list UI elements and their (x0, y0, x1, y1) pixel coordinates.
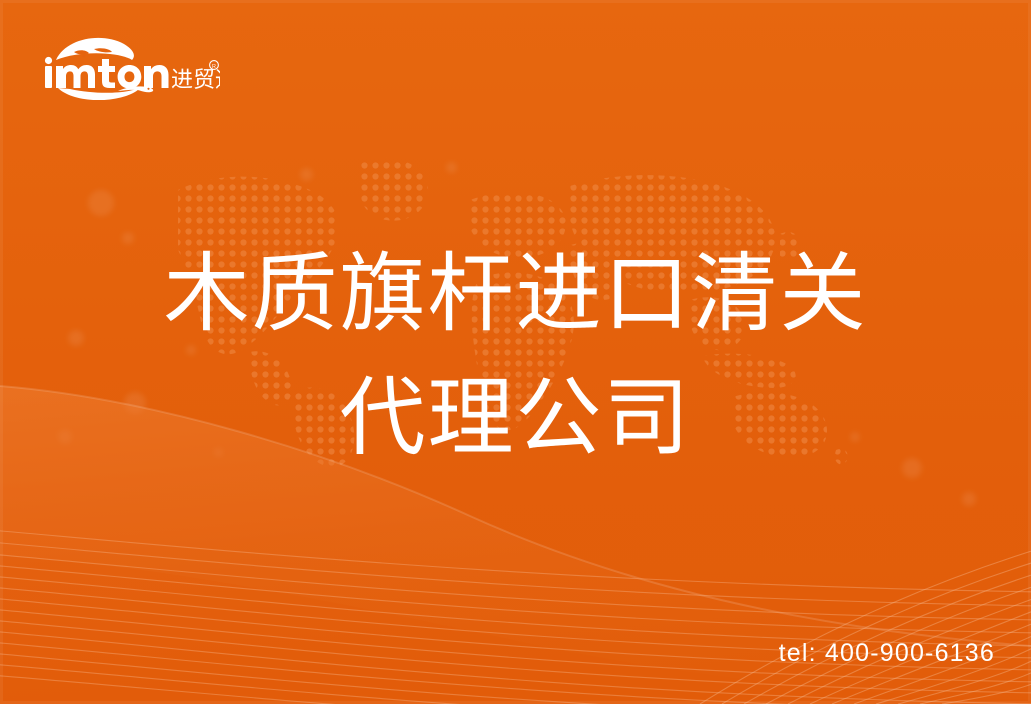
logo-chinese-name: 进贸通 (171, 68, 220, 93)
imton-wordmark (45, 57, 169, 89)
promo-banner: 进贸通 R 木质旗杆进口清关 代理公司 tel: 400-900-6136 (0, 0, 1031, 704)
svg-text:R: R (212, 64, 216, 70)
globe-arc-icon (56, 38, 134, 60)
headline-line-1: 木质旗杆进口清关 (0, 232, 1031, 356)
contact-phone[interactable]: tel: 400-900-6136 (779, 639, 995, 668)
headline-line-2: 代理公司 (0, 356, 1031, 480)
bird-swoosh-icon (58, 86, 153, 100)
registered-mark-icon: R (210, 61, 219, 71)
company-logo[interactable]: 进贸通 R (40, 30, 220, 100)
page-title: 木质旗杆进口清关 代理公司 (0, 232, 1031, 480)
